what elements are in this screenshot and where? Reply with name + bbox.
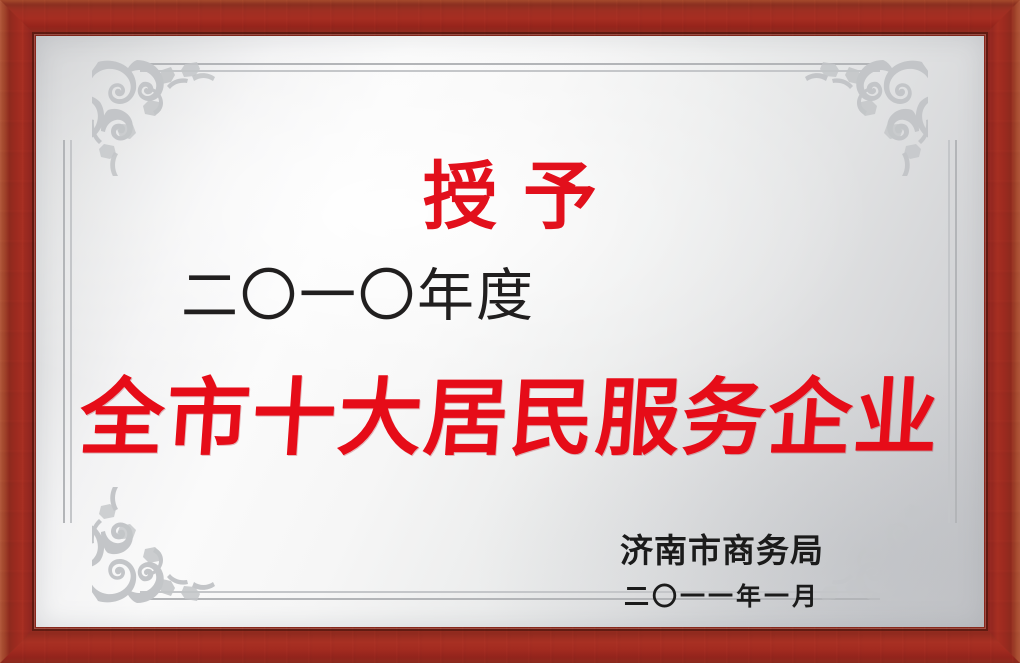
border-rule-top-inner — [140, 70, 880, 72]
award-title-text: 全市十大居民服务企业 — [36, 371, 984, 465]
award-year-text: 二〇一〇年度 — [181, 268, 535, 325]
border-rule-top-outer — [140, 63, 880, 65]
issuer-name-text: 济南市商务局 — [620, 534, 824, 567]
corner-ornament-top-right — [796, 58, 928, 176]
frame-bottom-rail — [0, 627, 1020, 663]
issue-date-text: 二〇一一年一月 — [624, 584, 820, 609]
frame-left-stile — [0, 0, 36, 663]
corner-ornament-top-left — [92, 58, 224, 176]
plate-sheen-highlight — [36, 36, 984, 627]
certificate-plate: 授予 二〇一〇年度 全市十大居民服务企业 济南市商务局 二〇一一年一月 — [36, 36, 984, 627]
award-verb-text: 授予 — [36, 160, 984, 234]
corner-ornament-bottom-left — [92, 487, 224, 605]
award-plaque: 授予 二〇一〇年度 全市十大居民服务企业 济南市商务局 二〇一一年一月 — [0, 0, 1020, 663]
frame-top-rail — [0, 0, 1020, 36]
frame-right-stile — [984, 0, 1020, 663]
